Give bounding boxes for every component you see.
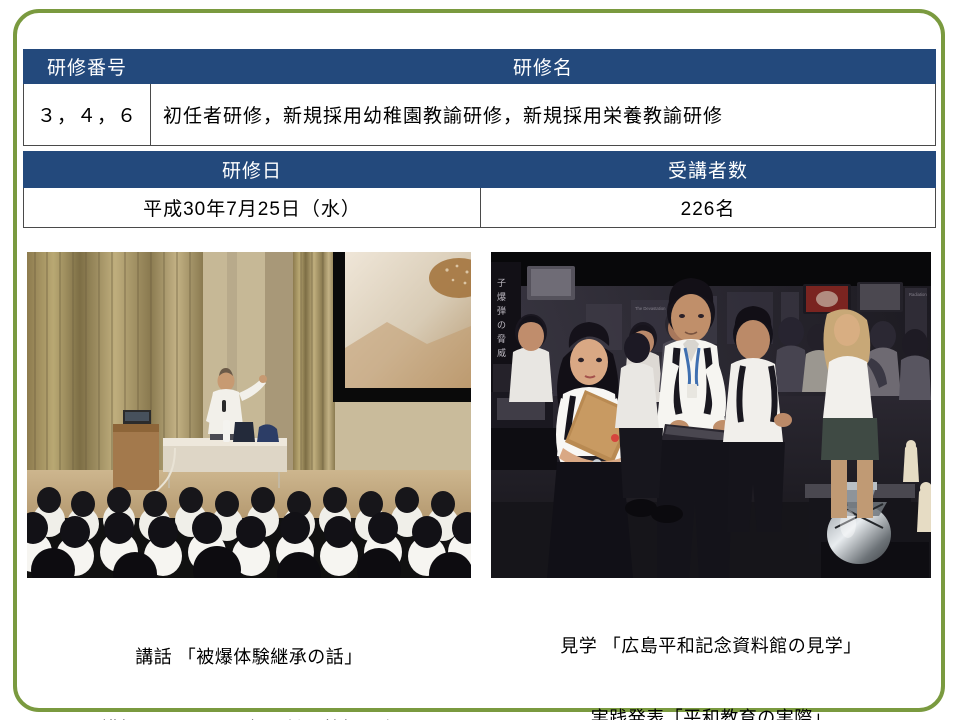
left-photo-caption: 講話 「被爆体験継承の話」 講師 ヒロシマを語り継ぐ教師の会 事務局長 梶矢 文… (27, 597, 471, 720)
value-cell-training-number: ３，４，６ (24, 84, 151, 146)
table-row-header-2: 研修日 受講者数 (24, 152, 936, 188)
auditorium-lecture-illustration (27, 252, 471, 578)
svg-text:の: の (497, 320, 506, 330)
svg-text:The Devastation: The Devastation (635, 306, 666, 311)
svg-text:弾: 弾 (497, 305, 506, 316)
table-row-values-2: 平成30年7月25日（水） 226名 (24, 188, 936, 228)
caption-right-line-2: 実践発表「平和教育の実際」 (491, 706, 931, 720)
svg-text:Radiation: Radiation (909, 292, 927, 297)
header-cell-training-name: 研修名 (151, 50, 936, 84)
training-info-table: 研修番号 研修名 ３，４，６ 初任者研修，新規採用幼稚園教諭研修，新規採用栄養教… (23, 49, 936, 146)
table-row-header-1: 研修番号 研修名 (24, 50, 936, 84)
value-cell-training-name: 初任者研修，新規採用幼稚園教諭研修，新規採用栄養教諭研修 (151, 84, 936, 146)
svg-text:子: 子 (497, 278, 506, 288)
caption-left-line-1: 講話 「被爆体験継承の話」 (27, 645, 471, 669)
svg-text:爆: 爆 (497, 291, 506, 302)
caption-right-line-1: 見学 「広島平和記念資料館の見学」 (491, 634, 931, 658)
header-cell-training-date: 研修日 (24, 152, 481, 188)
svg-text:威: 威 (497, 347, 506, 358)
svg-text:脅: 脅 (497, 333, 506, 344)
museum-visit-photo: 子爆弾 の脅威 The Devastation (491, 252, 931, 578)
table-row-values-1: ３，４，６ 初任者研修，新規採用幼稚園教諭研修，新規採用栄養教諭研修 (24, 84, 936, 146)
auditorium-lecture-photo (27, 252, 471, 578)
header-cell-participant-count: 受講者数 (481, 152, 936, 188)
right-photo-caption: 見学 「広島平和記念資料館の見学」 実践発表「平和教育の実際」 指導者 本川小学… (491, 586, 931, 720)
header-cell-training-number: 研修番号 (24, 50, 151, 84)
museum-visit-illustration: 子爆弾 の脅威 The Devastation (491, 252, 931, 578)
training-date-table: 研修日 受講者数 平成30年7月25日（水） 226名 (23, 151, 936, 228)
value-cell-participant-count: 226名 (481, 188, 936, 228)
value-cell-training-date: 平成30年7月25日（水） (24, 188, 481, 228)
slide-page: 研修番号 研修名 ３，４，６ 初任者研修，新規採用幼稚園教諭研修，新規採用栄養教… (0, 0, 960, 720)
